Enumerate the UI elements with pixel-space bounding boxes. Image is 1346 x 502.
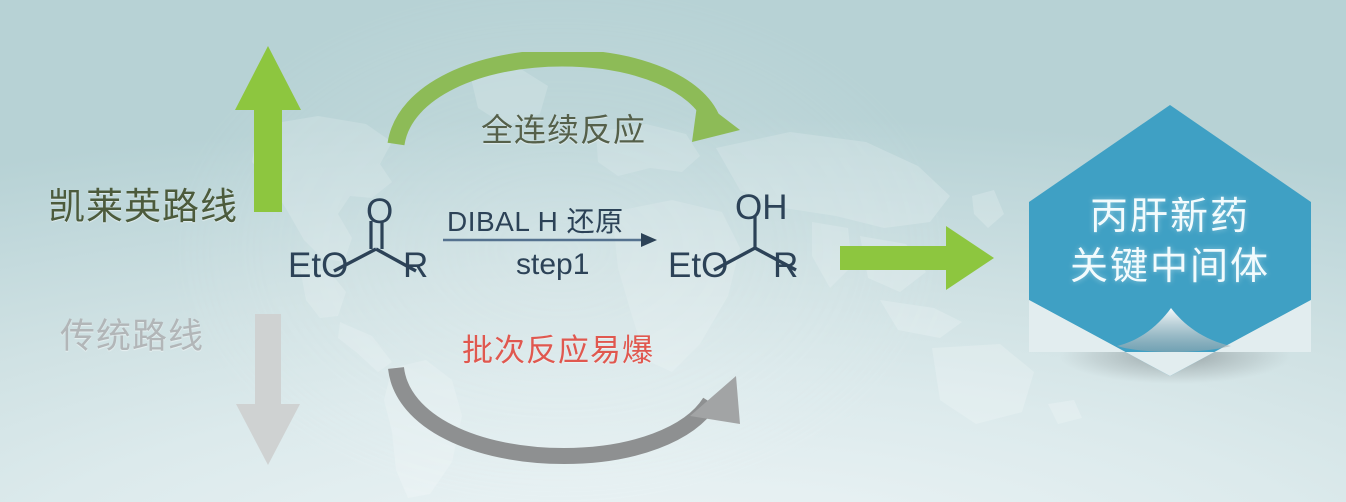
arrow-up-icon: [232, 44, 304, 214]
hexagon-shape-icon: [1025, 100, 1315, 385]
route-label-lower: 传统路线: [60, 308, 204, 359]
slide-canvas: 凯莱英路线 传统路线 全连续反应 批次反应易爆 EtO R O DIBAL H …: [0, 0, 1346, 502]
arc-label-batch: 批次反应易爆: [462, 325, 654, 370]
reaction-step-label: step1: [516, 248, 589, 282]
arrow-right-icon: [838, 224, 996, 292]
arrow-down-icon: [234, 312, 304, 467]
curved-arrow-down-icon: [380, 360, 750, 465]
route-label-upper: 凯莱英路线: [48, 176, 238, 230]
reactant-bonds-icon: [330, 215, 420, 277]
reaction-arrow-icon: [443, 232, 658, 248]
output-hexagon[interactable]: 丙肝新药 关键中间体: [1025, 100, 1315, 385]
arc-label-continuous: 全连续反应: [481, 105, 646, 151]
product-bonds-icon: [710, 212, 800, 278]
